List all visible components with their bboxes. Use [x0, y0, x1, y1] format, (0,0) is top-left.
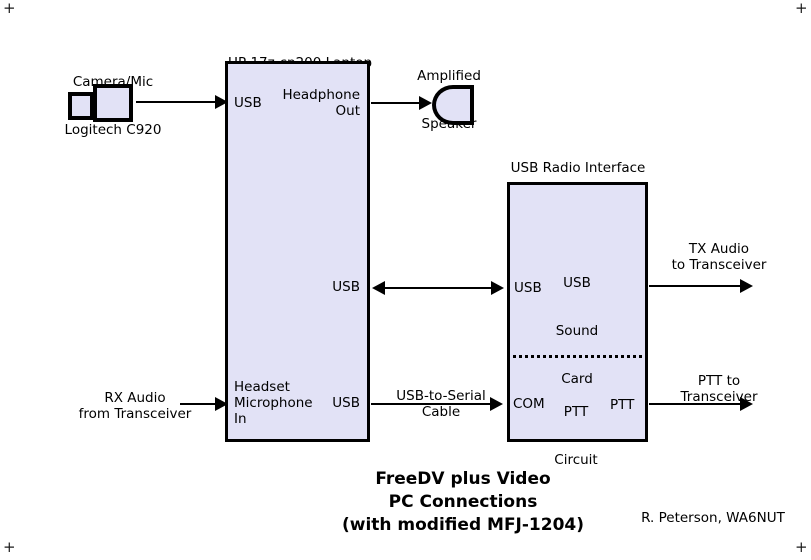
laptop-port-usb-bottom: USB [300, 395, 360, 411]
webcam-body [93, 84, 133, 122]
rx-audio-label: RX Audio from Transceiver [55, 390, 215, 422]
diagram-canvas: + + + + Camera/Mic Logitech C920 HP 17z-… [0, 0, 811, 560]
diagram-title-line-2: PC Connections [298, 491, 628, 514]
ptt-circuit-port-ptt: PTT [610, 397, 646, 413]
diagram-credit-line-1: R. Peterson, WA6NUT [628, 510, 798, 526]
ptt-circuit-port-com: COM [513, 396, 557, 412]
tx-audio-label: TX Audio to Transceiver [644, 241, 794, 273]
crop-mark-bottom-left: + [3, 540, 16, 555]
laptop-port-headphone-out: Headphone Out [265, 87, 360, 119]
interface-label-line-1: USB Radio Interface [493, 160, 663, 176]
webcam-lens [68, 92, 94, 120]
diagram-credit: R. Peterson, WA6NUT 2/1/26 [628, 478, 798, 560]
crop-mark-top-right: + [795, 1, 808, 16]
diagram-title-line-1: FreeDV plus Video [298, 468, 628, 491]
ptt-circuit-name-line-2: Circuit [542, 452, 610, 468]
speaker-label-line-1: Amplified [395, 68, 503, 84]
sound-card-port-usb: USB [514, 280, 554, 296]
diagram-title: FreeDV plus Video PC Connections (with m… [298, 468, 628, 537]
camera-label-line-2: Logitech C920 [38, 122, 188, 138]
ptt-out-label: PTT to Transceiver [644, 373, 794, 405]
speaker-icon [432, 85, 474, 125]
sound-card-name-line-2: Sound [537, 323, 617, 339]
laptop-port-usb-mid: USB [290, 279, 360, 295]
diagram-title-line-3: (with modified MFJ-1204) [298, 514, 628, 537]
crop-mark-top-left: + [3, 1, 16, 16]
